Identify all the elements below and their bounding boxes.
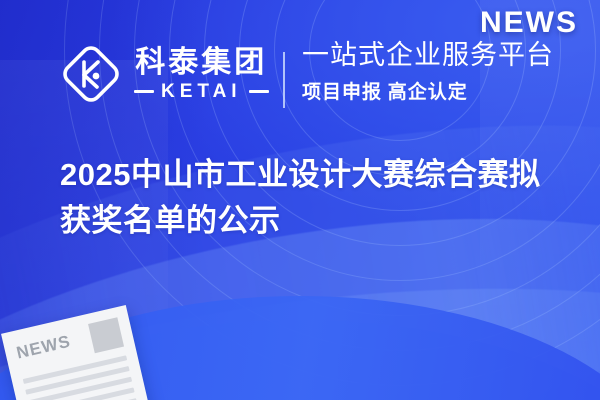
brand-name-en: KETAI (161, 82, 242, 101)
slogan-block: 一站式企业服务平台 项目申报 高企认定 (302, 40, 554, 104)
newspaper-title: NEWS (15, 333, 72, 362)
brand-name-cn: 科泰集团 (135, 47, 267, 79)
brand-wordmark: 科泰集团 KETAI (134, 47, 269, 101)
slogan-sub: 项目申报 高企认定 (302, 77, 554, 104)
vertical-divider (283, 52, 285, 108)
news-badge: NEWS (480, 6, 578, 40)
page-title: 2025中山市工业设计大赛综合赛拟获奖名单的公示 (60, 152, 570, 243)
brand-name-en-row: KETAI (134, 82, 269, 101)
slogan-main: 一站式企业服务平台 (302, 40, 554, 71)
news-banner: NEWS 科泰集团 KETAI 一站式企业服务平台 项目申报 高企认定 2025… (0, 0, 600, 400)
dash-right-icon (249, 90, 269, 93)
ketai-diamond-k-logo-icon (60, 43, 122, 105)
brand-logo[interactable]: 科泰集团 KETAI (60, 38, 269, 110)
newspaper-thumbnail (88, 317, 124, 353)
dash-left-icon (134, 90, 154, 93)
